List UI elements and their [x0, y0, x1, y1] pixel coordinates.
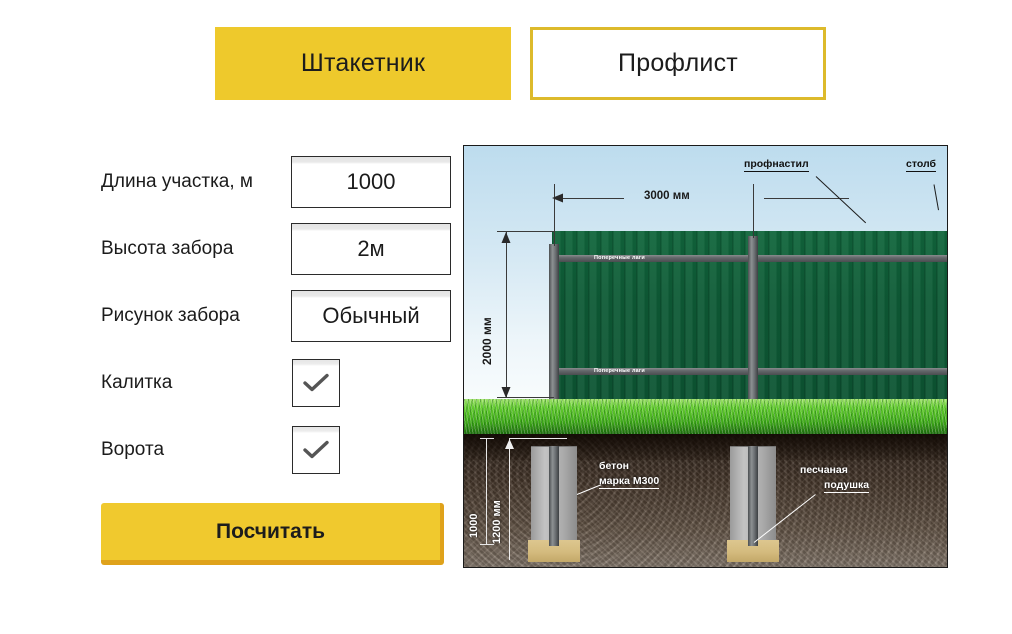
- check-icon: [303, 440, 329, 460]
- height-arrowhead-bottom: [500, 384, 512, 398]
- span-dim-arrow-right: [764, 198, 849, 199]
- tab-bar: Штакетник Профлист: [215, 27, 826, 100]
- span-dim-tick-right: [753, 184, 754, 238]
- depth-inner-tick-top: [509, 438, 567, 439]
- span-dim-label: 3000 мм: [644, 190, 690, 202]
- height-dim-line: [506, 231, 507, 397]
- span-arrowhead-left: [552, 192, 566, 204]
- callout-sand-line2: подушка: [824, 479, 869, 493]
- label-gate: Ворота: [101, 439, 291, 461]
- fence-diagram-image: Поперечные лаги Поперечные лаги 3000 мм …: [463, 145, 948, 568]
- form-row-length: Длина участка, м 1000: [101, 148, 451, 215]
- grass-layer: [464, 399, 947, 437]
- form-row-height: Высота забора 2м: [101, 215, 451, 282]
- depth-inner-arrowhead: [504, 439, 515, 452]
- depth-outer-label: 1000: [468, 514, 480, 538]
- check-icon: [303, 373, 329, 393]
- fence-post-right-buried: [748, 446, 758, 546]
- input-length[interactable]: 1000: [291, 156, 451, 208]
- calculator-form: Длина участка, м 1000 Высота забора 2м Р…: [101, 148, 451, 483]
- callout-concrete-line1: бетон: [599, 460, 629, 473]
- tab-proflist[interactable]: Профлист: [530, 27, 826, 100]
- height-arrowhead-top: [500, 232, 512, 246]
- input-height[interactable]: 2м: [291, 223, 451, 275]
- checkbox-wicket[interactable]: [292, 359, 340, 407]
- label-height: Высота забора: [101, 238, 291, 260]
- depth-outer-line: [486, 438, 487, 544]
- label-length: Длина участка, м: [101, 171, 291, 193]
- callout-concrete-line2: марка М300: [599, 475, 659, 489]
- callout-profnastil: профнастил: [744, 158, 809, 172]
- rail-label-top: Поперечные лаги: [594, 255, 645, 262]
- depth-inner-line: [509, 438, 510, 560]
- checkbox-gate[interactable]: [292, 426, 340, 474]
- callout-stolb: столб: [906, 158, 936, 172]
- form-row-wicket: Калитка: [101, 349, 451, 416]
- form-row-gate: Ворота: [101, 416, 451, 483]
- rail-label-bottom: Поперечные лаги: [594, 368, 645, 375]
- label-wicket: Калитка: [101, 372, 291, 394]
- depth-outer-tick-top: [480, 438, 494, 439]
- select-pattern[interactable]: Обычный: [291, 290, 451, 342]
- height-dim-label: 2000 мм: [480, 317, 494, 365]
- depth-outer-tick-bottom: [480, 544, 494, 545]
- callout-sand-line1: песчаная: [800, 464, 848, 477]
- form-row-pattern: Рисунок забора Обычный: [101, 282, 451, 349]
- tab-shtaketnik[interactable]: Штакетник: [215, 27, 511, 100]
- calculate-button[interactable]: Посчитать: [101, 503, 444, 565]
- fence-post-left-buried: [549, 446, 559, 546]
- label-pattern: Рисунок забора: [101, 305, 291, 327]
- depth-inner-label: 1200 мм: [491, 500, 503, 544]
